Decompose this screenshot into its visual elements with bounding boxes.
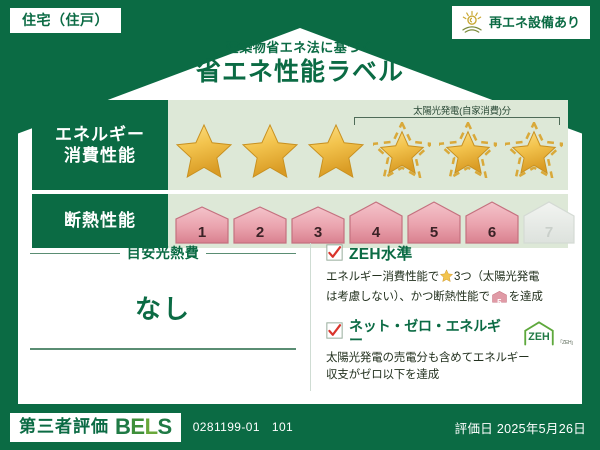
insulation-performance-label: 断熱性能: [32, 194, 168, 248]
claim-net-zero-line1: 太陽光発電の売電分も含めてエネルギー: [326, 352, 529, 364]
sun-icon: [460, 10, 484, 34]
building-type-badge: 住宅（住戸）: [10, 8, 121, 33]
renewable-badge-label: 再エネ設備あり: [489, 16, 580, 29]
estimated-cost-heading-text: 目安光熱費: [127, 243, 200, 263]
bels-letter-s: S: [158, 414, 172, 439]
bels-letter-b: B: [115, 414, 130, 439]
insulation-step-number: 6: [464, 224, 520, 241]
claim-net-zero-body: 太陽光発電の売電分も含めてエネルギー 収支がゼロ以下を達成: [326, 350, 576, 386]
evaluation-date: 評価日 2025年5月26日: [455, 418, 586, 437]
page-title: 省エネ性能ラベル: [0, 57, 600, 88]
insulation-step-number: 3: [290, 224, 346, 241]
svg-text:ZEH: ZEH: [529, 331, 550, 343]
insulation-scale: 1 2 3: [174, 198, 576, 245]
insulation-step-number: 2: [232, 224, 288, 241]
claim-body-part3: を達成: [509, 291, 543, 303]
heading-rule-left: [30, 253, 120, 254]
claim-body-part2: は考慮しない）、かつ断熱性能で: [326, 291, 490, 303]
claim-body-part1: エネルギー消費性能で: [326, 271, 439, 283]
title-subtitle: 建築物省エネ法に基づく: [0, 40, 600, 56]
inline-star-icon: [440, 269, 453, 289]
insulation-step-1: 1: [174, 203, 230, 245]
star-solar: [502, 116, 566, 184]
claim-net-zero-line2: 収支がゼロ以下を達成: [326, 369, 439, 381]
claim-zeh-standard-body: エネルギー消費性能で3つ（太陽光発電 は考慮しない）、かつ断熱性能で5を達成: [326, 269, 576, 310]
bels-letter-e: E: [130, 414, 144, 439]
claim-zeh-standard-header: ZEH水準: [326, 244, 576, 266]
star-solar: [436, 116, 500, 184]
insulation-step-number: 5: [406, 224, 462, 241]
bels-wordmark: BELS: [115, 416, 172, 438]
zeh-claims-block: ZEH水準 エネルギー消費性能で3つ（太陽光発電 は考慮しない）、かつ断熱性能で…: [326, 244, 576, 394]
claim-net-zero-title: ネット・ゼロ・エネルギー: [349, 319, 513, 347]
third-party-label: 第三者評価: [19, 418, 109, 435]
insulation-step-number: 4: [348, 224, 404, 241]
claim-net-zero-energy: ネット・ゼロ・エネルギー ZEH 「ZEH」 太陽光発電の売電分も含めてエネルギ…: [326, 319, 576, 386]
insulation-step-4: 4: [348, 198, 404, 245]
energy-label-line1: エネルギー: [55, 124, 145, 145]
cost-bottom-rule: [30, 348, 296, 350]
inline-house-number: 5: [492, 297, 507, 309]
energy-performance-body: 太陽光発電(自家消費)分: [168, 100, 568, 190]
performance-panels: エネルギー 消費性能 太陽光発電(自家消費)分: [32, 100, 568, 252]
bels-certification-badge: 第三者評価 BELS: [10, 413, 181, 442]
heading-rule-right: [206, 253, 296, 254]
energy-performance-row: エネルギー 消費性能 太陽光発電(自家消費)分: [32, 100, 568, 190]
title-block: 建築物省エネ法に基づく 省エネ性能ラベル: [0, 40, 600, 88]
star-solar: [370, 116, 434, 184]
energy-label-line2: 消費性能: [64, 145, 136, 166]
insulation-performance-row: 断熱性能 1: [32, 194, 568, 248]
insulation-step-6: 6: [464, 198, 520, 245]
checkbox-checked-icon: [326, 244, 343, 266]
renewable-equipment-badge: 再エネ設備あり: [452, 6, 590, 39]
star-filled: [238, 116, 302, 184]
certificate-suffix: 101: [272, 420, 293, 434]
inline-house-icon: 5: [492, 290, 507, 310]
star-filled: [172, 116, 236, 184]
insulation-step-3: 3: [290, 203, 346, 245]
estimated-cost-heading: 目安光熱費: [30, 243, 296, 263]
footer-bar: 第三者評価 BELS 0281199-01 101 評価日 2025年5月26日: [0, 404, 600, 450]
insulation-performance-body: 1 2 3: [168, 194, 568, 248]
insulation-step-5: 5: [406, 198, 462, 245]
claim-zeh-standard-title: ZEH水準: [349, 247, 413, 263]
insulation-step-number: 7: [522, 224, 576, 241]
estimated-utility-cost-block: 目安光熱費 なし: [30, 243, 296, 350]
bels-letter-l: L: [145, 414, 158, 439]
claim-net-zero-header: ネット・ゼロ・エネルギー ZEH 「ZEH」: [326, 319, 576, 347]
solar-bracket-label: 太陽光発電(自家消費)分: [364, 103, 560, 117]
estimated-cost-value: なし: [30, 263, 296, 348]
star-rating: [172, 116, 572, 184]
insulation-step-7: 7: [522, 198, 576, 245]
zeh-logo: ZEH 「ZEH」: [522, 320, 576, 346]
zeh-logo-subtext: 「ZEH」: [557, 339, 576, 346]
energy-performance-label: 住宅（住戸） 再エネ設備あり 建築物省エネ法に基づく 省エネ性能ラベル: [0, 0, 600, 450]
insulation-step-2: 2: [232, 203, 288, 245]
claim-zeh-standard: ZEH水準 エネルギー消費性能で3つ（太陽光発電 は考慮しない）、かつ断熱性能で…: [326, 244, 576, 310]
star-filled: [304, 116, 368, 184]
section-divider: [310, 243, 311, 391]
checkbox-checked-icon: [326, 322, 343, 344]
claim-body-star-text: 3つ（太陽光発電: [454, 271, 539, 283]
insulation-step-number: 1: [174, 224, 230, 241]
certificate-number: 0281199-01: [193, 420, 260, 434]
insulation-label-text: 断熱性能: [64, 210, 136, 231]
energy-performance-label: エネルギー 消費性能: [32, 100, 168, 190]
